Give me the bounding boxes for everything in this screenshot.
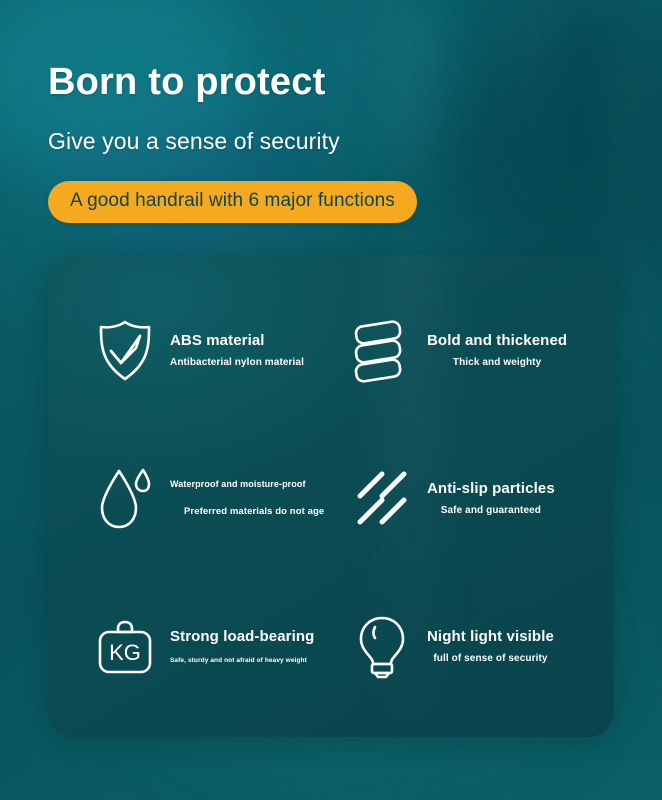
feature-subtitle: Safe and guaranteed	[441, 504, 541, 517]
feature-text: Anti-slip particles Safe and guaranteed	[427, 480, 555, 517]
feature-title: ABS material	[170, 332, 304, 351]
page-subtitle: Give you a sense of security	[48, 128, 662, 155]
shield-check-icon	[94, 317, 156, 385]
feature-title: Strong load-bearing	[170, 628, 314, 647]
kg-icon-label: KG	[109, 640, 141, 665]
promo-banner: Born to protect Give you a sense of secu…	[0, 0, 662, 737]
feature-subtitle: Thick and weighty	[453, 356, 541, 369]
feature-anti-slip: Anti-slip particles Safe and guaranteed	[329, 425, 600, 573]
features-grid: ABS material Antibacterial nylon materia…	[48, 255, 614, 737]
feature-waterproof: Waterproof and moisture-proof Preferred …	[58, 425, 329, 573]
feature-bold-thickened: Bold and thickened Thick and weighty	[329, 277, 600, 425]
feature-text: Night light visible full of sense of sec…	[427, 628, 554, 665]
feature-load-bearing: KG Strong load-bearing Safe, sturdy and …	[58, 573, 329, 721]
features-card: ABS material Antibacterial nylon materia…	[48, 255, 614, 737]
page-title: Born to protect	[48, 0, 662, 104]
feature-abs-material: ABS material Antibacterial nylon materia…	[58, 277, 329, 425]
feature-text: ABS material Antibacterial nylon materia…	[170, 332, 304, 369]
feature-title: Night light visible	[427, 628, 554, 647]
feature-subtitle: Preferred materials do not age	[184, 506, 324, 518]
kg-weight-icon: KG	[94, 613, 156, 681]
water-drop-icon	[94, 465, 156, 533]
feature-text: Waterproof and moisture-proof Preferred …	[170, 479, 324, 519]
feature-subtitle: full of sense of security	[433, 652, 547, 665]
feature-subtitle: Antibacterial nylon material	[170, 356, 304, 369]
feature-subtitle: Safe, sturdy and not afraid of heavy wei…	[170, 657, 314, 665]
feature-title: Anti-slip particles	[427, 480, 555, 499]
stacked-layers-icon	[351, 317, 413, 385]
feature-title: Bold and thickened	[427, 332, 567, 351]
anti-slip-lines-icon	[351, 465, 413, 533]
feature-title: Waterproof and moisture-proof	[170, 479, 324, 490]
feature-count-badge: A good handrail with 6 major functions	[48, 181, 417, 223]
light-bulb-icon	[351, 613, 413, 681]
feature-night-light: Night light visible full of sense of sec…	[329, 573, 600, 721]
feature-text: Strong load-bearing Safe, sturdy and not…	[170, 628, 314, 666]
feature-text: Bold and thickened Thick and weighty	[427, 332, 567, 369]
